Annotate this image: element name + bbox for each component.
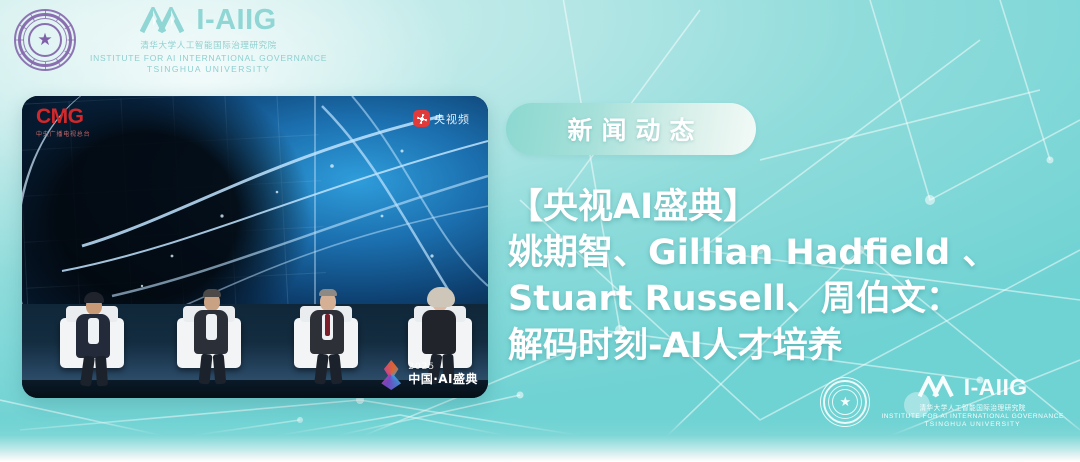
brand-wordmark: I-AIIG xyxy=(964,376,1028,399)
cctv-app-icon xyxy=(413,110,430,127)
title-line-4: 解码时刻-AI人才培养 xyxy=(508,323,1068,369)
brand-wordmark: I-AIIG xyxy=(196,6,276,35)
tsinghua-seal-icon: ★ xyxy=(14,9,76,71)
event-photo[interactable]: CMG 中央广播电视总台 央视频 2025 中国·AI盛典 xyxy=(22,96,488,398)
cmg-wordmark: CMG xyxy=(36,106,90,127)
photo-light-streams xyxy=(22,96,488,311)
header-logo: ★ I-AIIG 清华大学人工智 xyxy=(14,6,327,74)
tsinghua-seal-icon: ★ xyxy=(820,377,870,427)
iaiig-mark-icon xyxy=(140,7,192,34)
iaiig-mark-icon xyxy=(918,376,960,398)
banner-canvas: ★ I-AIIG 清华大学人工智 xyxy=(0,0,1080,462)
gala-watermark: 2025 中国·AI盛典 xyxy=(378,360,478,390)
news-category-label: 新闻动态 xyxy=(558,111,703,147)
footer-logo: ★ I-AIIG 清华大学人工智能国际治理研究院 INSTITUTE FOR A… xyxy=(820,376,1064,429)
brand-english-line2: TSINGHUA UNIVERSITY xyxy=(925,421,1021,428)
title-line-1: 【央视AI盛典】 xyxy=(508,184,1068,230)
iaiig-brand: I-AIIG 清华大学人工智能国际治理研究院 INSTITUTE FOR AI … xyxy=(90,6,327,74)
gala-emblem-icon xyxy=(378,360,404,390)
brand-english-line1: INSTITUTE FOR AI INTERNATIONAL GOVERNANC… xyxy=(881,413,1064,420)
cctv-label: 央视频 xyxy=(434,111,470,127)
brand-english-line2: TSINGHUA UNIVERSITY xyxy=(147,64,270,74)
article-title[interactable]: 【央视AI盛典】 姚期智、Gillian Hadfield 、 Stuart R… xyxy=(508,184,1068,369)
brand-chinese-name: 清华大学人工智能国际治理研究院 xyxy=(919,402,1025,412)
title-line-2: 姚期智、Gillian Hadfield 、 xyxy=(508,230,1068,276)
news-category-badge[interactable]: 新闻动态 xyxy=(506,103,756,155)
iaiig-brand: I-AIIG 清华大学人工智能国际治理研究院 INSTITUTE FOR AI … xyxy=(881,376,1064,429)
gala-name: 中国·AI盛典 xyxy=(408,373,478,386)
brand-chinese-name: 清华大学人工智能国际治理研究院 xyxy=(140,39,277,51)
title-line-3: Stuart Russell、周伯文： xyxy=(508,276,1068,322)
cmg-logo: CMG 中央广播电视总台 xyxy=(36,106,90,138)
brand-english-line1: INSTITUTE FOR AI INTERNATIONAL GOVERNANC… xyxy=(90,53,327,63)
cmg-subtitle: 中央广播电视总台 xyxy=(36,129,90,138)
cctv-watermark: 央视频 xyxy=(413,110,470,127)
